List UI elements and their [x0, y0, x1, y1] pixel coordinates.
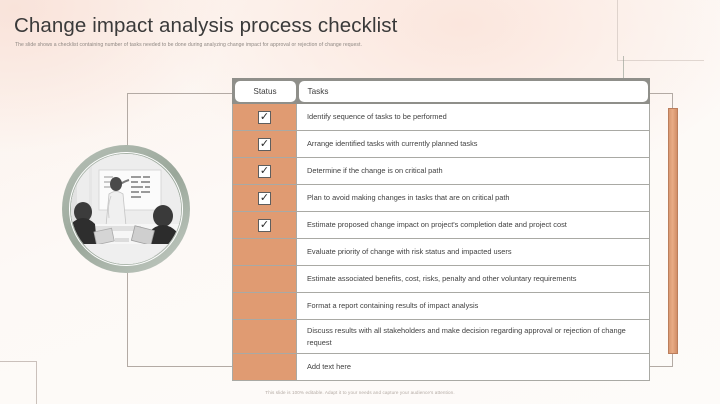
- task-cell: Estimate proposed change impact on proje…: [297, 212, 649, 238]
- status-cell[interactable]: ✓: [233, 104, 297, 130]
- status-cell[interactable]: ✓: [233, 212, 297, 238]
- checkbox-checked-icon[interactable]: ✓: [258, 138, 271, 151]
- table-row: ✓Format a report containing results of i…: [232, 293, 650, 320]
- footer-note: This slide is 100% editable. Adapt it to…: [0, 390, 720, 395]
- photo-medallion: [62, 145, 190, 273]
- corner-accent-tick: [623, 56, 624, 78]
- table-body: ✓Identify sequence of tasks to be perfor…: [232, 104, 650, 381]
- corner-decoration-top-right: [617, 0, 704, 61]
- page-title: Change impact analysis process checklist: [14, 14, 397, 38]
- status-cell[interactable]: ✓: [233, 266, 297, 292]
- status-cell[interactable]: ✓: [233, 131, 297, 157]
- task-cell: Plan to avoid making changes in tasks th…: [297, 185, 649, 211]
- accent-bar-right: [668, 108, 678, 354]
- status-cell[interactable]: ✓: [233, 293, 297, 319]
- status-cell[interactable]: ✓: [233, 320, 297, 353]
- column-header-tasks: Tasks: [299, 81, 648, 102]
- task-cell: Arrange identified tasks with currently …: [297, 131, 649, 157]
- table-row: ✓Identify sequence of tasks to be perfor…: [232, 104, 650, 131]
- table-header-row: Status Tasks: [232, 78, 650, 104]
- meeting-photo-illustration: [71, 154, 181, 264]
- task-cell: Format a report containing results of im…: [297, 293, 649, 319]
- status-cell[interactable]: ✓: [233, 185, 297, 211]
- table-row: ✓Discuss results with all stakeholders a…: [232, 320, 650, 354]
- checkbox-checked-icon[interactable]: ✓: [258, 219, 271, 232]
- status-cell[interactable]: ✓: [233, 354, 297, 380]
- task-cell: Estimate associated benefits, cost, risk…: [297, 266, 649, 292]
- task-cell: Identify sequence of tasks to be perform…: [297, 104, 649, 130]
- task-cell: Add text here: [297, 354, 649, 380]
- task-cell: Discuss results with all stakeholders an…: [297, 320, 649, 353]
- status-cell[interactable]: ✓: [233, 158, 297, 184]
- corner-decoration-bottom-left: [0, 361, 37, 404]
- checkbox-checked-icon[interactable]: ✓: [258, 111, 271, 124]
- table-row: ✓Plan to avoid making changes in tasks t…: [232, 185, 650, 212]
- table-row: ✓Add text here: [232, 354, 650, 381]
- column-header-status: Status: [235, 81, 296, 102]
- checkbox-checked-icon[interactable]: ✓: [258, 165, 271, 178]
- photo-image: [71, 154, 181, 264]
- task-cell: Evaluate priority of change with risk st…: [297, 239, 649, 265]
- table-row: ✓Evaluate priority of change with risk s…: [232, 239, 650, 266]
- task-cell: Determine if the change is on critical p…: [297, 158, 649, 184]
- slide-canvas: Change impact analysis process checklist…: [0, 0, 720, 404]
- checklist-table: Status Tasks ✓Identify sequence of tasks…: [232, 78, 650, 381]
- table-row: ✓Arrange identified tasks with currently…: [232, 131, 650, 158]
- checkbox-checked-icon[interactable]: ✓: [258, 192, 271, 205]
- table-row: ✓Estimate proposed change impact on proj…: [232, 212, 650, 239]
- page-subtitle: The slide shows a checklist containing n…: [15, 42, 362, 48]
- status-cell[interactable]: ✓: [233, 239, 297, 265]
- table-row: ✓Determine if the change is on critical …: [232, 158, 650, 185]
- table-row: ✓Estimate associated benefits, cost, ris…: [232, 266, 650, 293]
